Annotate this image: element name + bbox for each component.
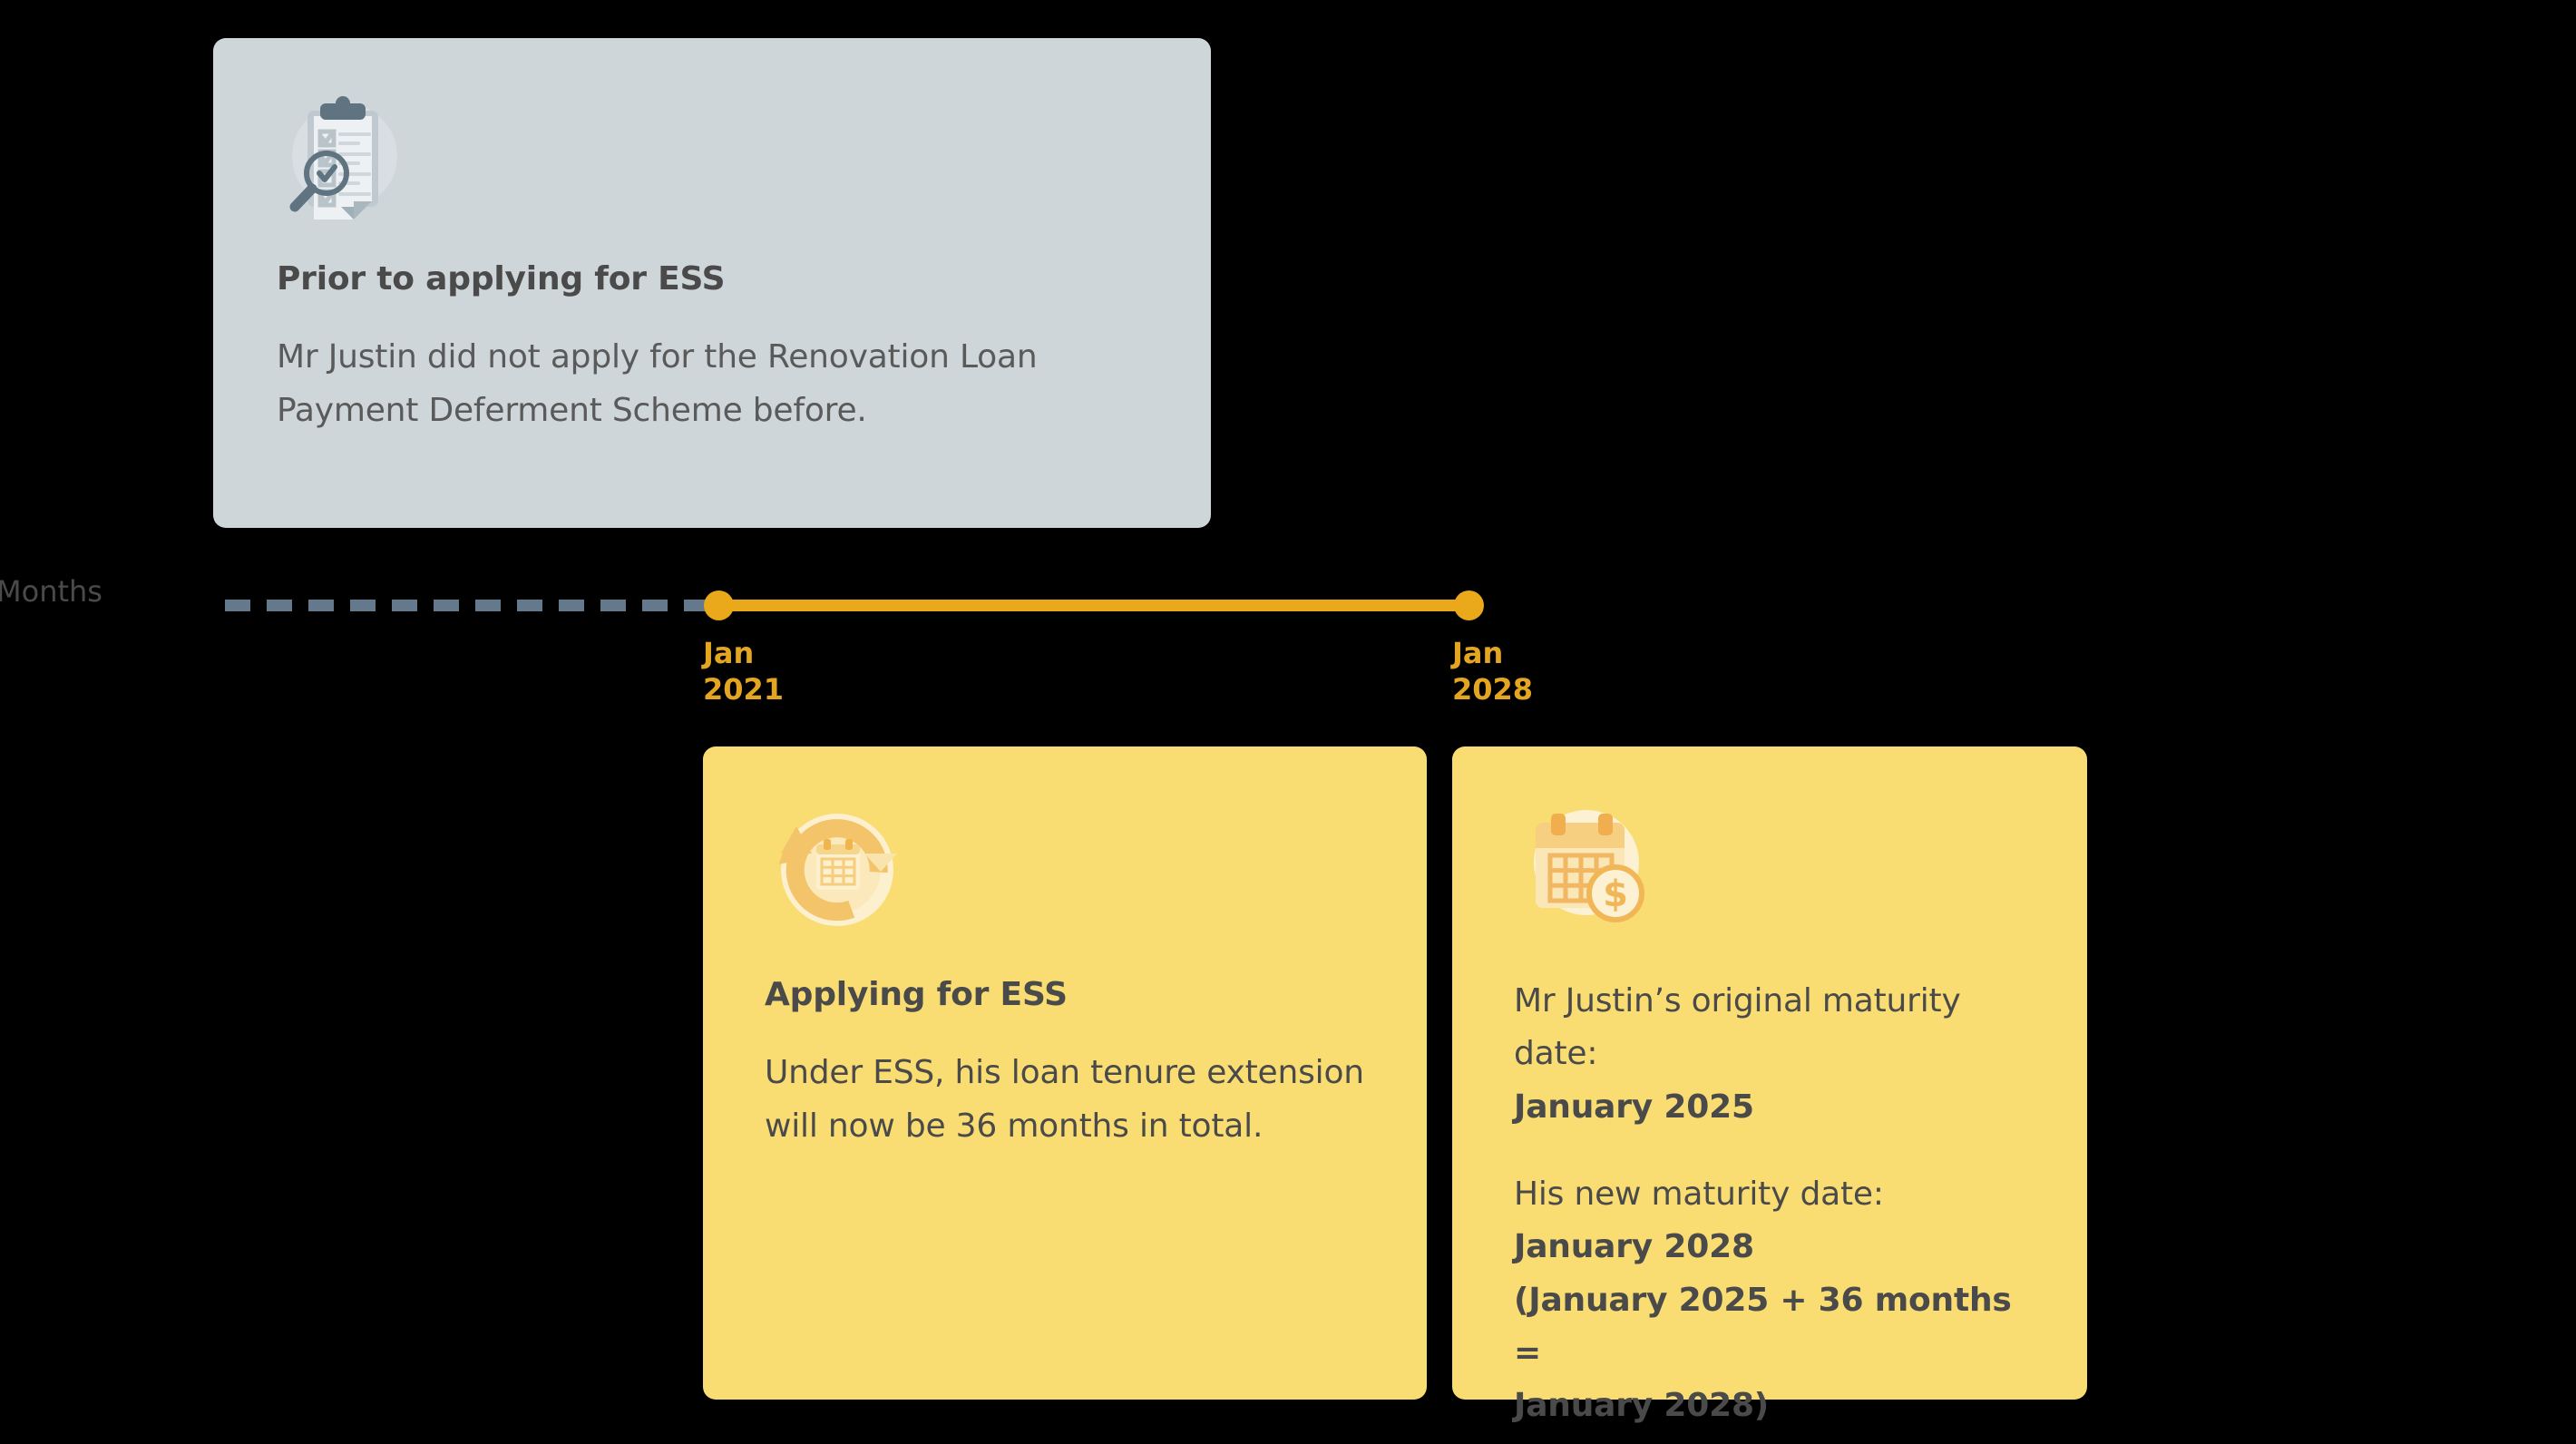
maturity-line-original-label: Mr Justin’s original maturity date: xyxy=(1514,975,2025,1081)
infographic-canvas: Prior to applying for ESS Mr Justin did … xyxy=(0,0,2576,1444)
timeline-date-end: Jan 2028 xyxy=(1452,635,1533,707)
timeline-date-end-year: 2028 xyxy=(1452,671,1533,707)
card-applying-body: Under ESS, his loan tenure extension wil… xyxy=(765,1047,1365,1153)
maturity-spacer xyxy=(1514,1134,2025,1168)
timeline-axis-label: Months xyxy=(0,577,102,606)
maturity-line-new-date: January 2028 xyxy=(1514,1221,2025,1273)
maturity-line-original-date: January 2025 xyxy=(1514,1081,2025,1134)
timeline: Months Jan 2021 Jan 2028 xyxy=(0,562,2576,717)
timeline-date-start-year: 2021 xyxy=(703,671,784,707)
card-maturity-dates: $ Mr Justin’s original maturity date: Ja… xyxy=(1452,746,2087,1400)
clipboard-search-icon xyxy=(277,91,1147,230)
card-prior-to-applying: Prior to applying for ESS Mr Justin did … xyxy=(213,38,1211,528)
timeline-marker-end[interactable] xyxy=(1454,590,1484,620)
card-applying-for-ess: Applying for ESS Under ESS, his loan ten… xyxy=(703,746,1427,1400)
card-maturity-body: Mr Justin’s original maturity date: Janu… xyxy=(1514,975,2025,1433)
timeline-marker-start[interactable] xyxy=(704,590,734,620)
card-prior-heading: Prior to applying for ESS xyxy=(277,259,1147,298)
calendar-refresh-icon xyxy=(765,797,1365,946)
timeline-date-start: Jan 2021 xyxy=(703,635,784,707)
card-applying-heading: Applying for ESS xyxy=(765,975,1365,1014)
svg-text:$: $ xyxy=(1603,873,1628,915)
maturity-line-new-label: His new maturity date: xyxy=(1514,1168,2025,1221)
maturity-line-calc-part2: January 2028) xyxy=(1514,1380,2025,1432)
timeline-date-start-month: Jan xyxy=(703,635,784,671)
maturity-line-calc-part1: (January 2025 + 36 months = xyxy=(1514,1274,2025,1381)
timeline-date-end-month: Jan xyxy=(1452,635,1533,671)
card-prior-body: Mr Justin did not apply for the Renovati… xyxy=(277,331,1147,437)
timeline-solid-segment xyxy=(719,600,1469,611)
calendar-money-icon: $ xyxy=(1514,797,2025,946)
timeline-dashed-segment xyxy=(225,600,719,611)
